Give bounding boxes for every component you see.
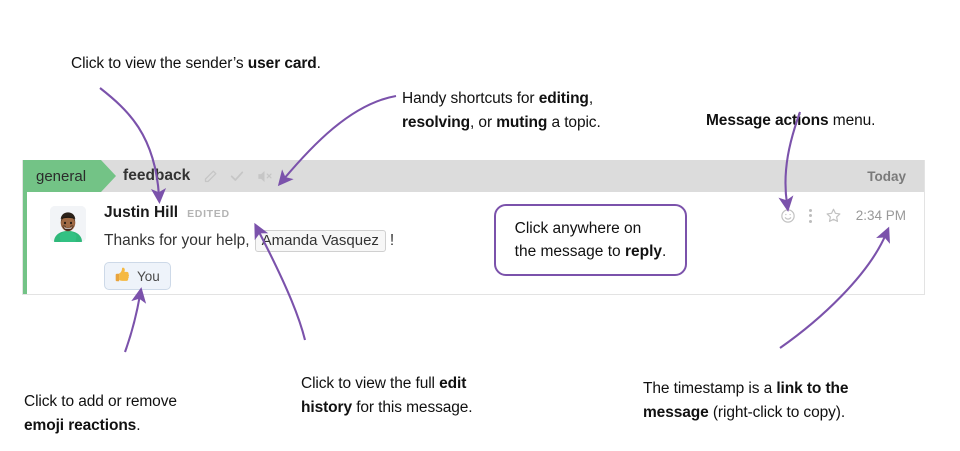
star-icon[interactable] xyxy=(825,207,842,224)
message-text-before: Thanks for your help, xyxy=(104,232,250,250)
annotation-emoji-bold: emoji reactions xyxy=(24,417,136,434)
annotation-time-pre: The timestamp is a xyxy=(643,380,776,397)
stream-topic-header: general feedback xyxy=(23,160,924,192)
annotation-actions-tail: menu. xyxy=(829,112,876,129)
annotation-emoji-pre: Click to add or remove xyxy=(24,393,177,410)
annotation-shortcuts-sep2: , or xyxy=(470,114,496,131)
annotation-user-card: Click to view the sender’s user card. xyxy=(71,28,371,76)
annotation-shortcuts-pre: Handy shortcuts for xyxy=(402,90,539,107)
message-row[interactable]: Justin Hill EDITED Thanks for your help,… xyxy=(23,192,924,294)
topic-name-label[interactable]: feedback xyxy=(123,167,190,185)
thumbs-up-icon xyxy=(113,266,130,286)
annotation-edit-pre: Click to view the full xyxy=(301,375,439,392)
edited-badge[interactable]: EDITED xyxy=(187,208,230,220)
annotation-timestamp-link: The timestamp is a link to the message (… xyxy=(643,353,960,425)
annotation-shortcuts-muting: muting xyxy=(496,114,547,131)
reaction-label: You xyxy=(137,269,160,284)
annotation-reply-pre: Click anywhere on the message to xyxy=(515,220,642,260)
annotation-shortcuts-resolving: resolving xyxy=(402,114,470,131)
annotation-message-actions: Message actions menu. xyxy=(706,85,956,133)
annotation-shortcuts-editing: editing xyxy=(539,90,589,107)
annotation-topic-shortcuts: Handy shortcuts for editing, resolving, … xyxy=(402,63,682,135)
stream-name-tag[interactable]: general xyxy=(23,160,101,192)
annotation-reply-bold: reply xyxy=(625,243,662,260)
message-panel: general feedback xyxy=(22,160,925,295)
pencil-icon[interactable] xyxy=(203,169,218,184)
message-timestamp[interactable]: 2:34 PM xyxy=(856,208,906,223)
annotation-actions-bold: Message actions xyxy=(706,112,829,129)
annotation-shortcuts-sep1: , xyxy=(589,90,593,107)
sender-name[interactable]: Justin Hill xyxy=(104,204,178,222)
annotation-reply-callout: Click anywhere on the message to reply. xyxy=(494,204,687,276)
stream-name-label: general xyxy=(36,168,86,185)
check-icon[interactable] xyxy=(229,168,245,184)
annotation-emoji-tail: . xyxy=(136,417,140,434)
emoji-reaction-pill[interactable]: You xyxy=(104,262,171,290)
screenshot-root: Click to view the sender’s user card. Ha… xyxy=(0,0,960,451)
avatar[interactable] xyxy=(50,206,86,242)
annotation-emoji-reactions: Click to add or remove emoji reactions. xyxy=(24,366,304,438)
mute-icon[interactable] xyxy=(256,169,273,184)
annotation-shortcuts-tail: a topic. xyxy=(547,114,600,131)
arrow-to-reaction xyxy=(125,295,140,352)
message-text-after: ! xyxy=(390,232,394,250)
message-menu-icon[interactable] xyxy=(807,209,814,223)
header-date-label: Today xyxy=(867,169,906,184)
message-action-icons: 2:34 PM xyxy=(780,207,906,224)
emoji-picker-icon[interactable] xyxy=(780,208,796,224)
topic-action-icons xyxy=(203,168,273,184)
annotation-edit-history: Click to view the full edit history for … xyxy=(301,348,551,420)
annotation-reply-tail: . xyxy=(662,243,666,260)
annotation-time-tail: (right-click to copy). xyxy=(709,404,845,421)
annotation-reply-text: Click anywhere on the message to reply. xyxy=(515,217,667,264)
mention-pill[interactable]: Amanda Vasquez xyxy=(255,230,386,252)
annotation-edit-tail: for this message. xyxy=(352,399,473,416)
annotation-user-card-text: Click to view the sender’s user card. xyxy=(71,55,321,72)
